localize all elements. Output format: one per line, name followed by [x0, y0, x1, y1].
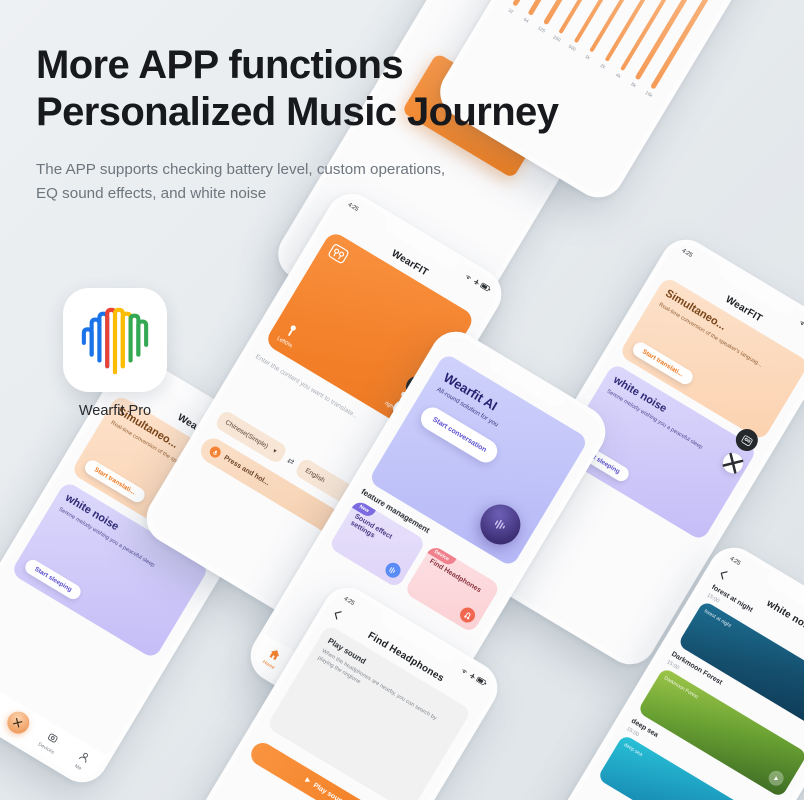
battery-icon	[480, 282, 493, 293]
eq-band-label: 16k	[645, 90, 654, 98]
headline-line-2: Personalized Music Journey	[36, 90, 558, 134]
nav-item-devices[interactable]: Devices	[30, 724, 70, 759]
eq-band-label: 500	[568, 43, 577, 51]
ai-waveform-icon	[473, 497, 528, 552]
headline-block: More APP functions Personalized Music Jo…	[36, 42, 558, 207]
airplane-icon	[472, 277, 480, 285]
eq-band-label: 64	[523, 16, 530, 23]
status-time: 4:25	[343, 596, 355, 607]
eq-band-label: 1k	[584, 53, 591, 60]
subtitle-line-1: The APP supports checking battery level,…	[36, 161, 445, 178]
eq-band-label: 4k	[615, 72, 622, 79]
wifi-icon	[464, 272, 473, 281]
eq-band-label: 125	[537, 25, 546, 33]
app-name-label: Wearfit Pro	[40, 403, 190, 419]
earbuds-case-icon	[325, 245, 349, 269]
status-time: 4:25	[681, 248, 693, 259]
mic-icon	[208, 445, 223, 460]
status-time: 4:25	[729, 556, 741, 567]
wifi-icon	[460, 666, 469, 675]
thumbnail-label: deep sea	[623, 742, 644, 758]
app-identity: Wearfit Pro	[40, 288, 190, 419]
swap-icon[interactable]: ⇄	[286, 455, 296, 466]
chevron-down-icon: ▾	[271, 447, 278, 456]
equalizer-icon	[382, 560, 403, 581]
app-icon-tile[interactable]	[63, 288, 167, 392]
feature-sound-effect-settings[interactable]: New Sound effect settings	[328, 499, 426, 588]
eq-band-label: 8k	[630, 81, 637, 88]
heart-waveform-icon	[76, 304, 154, 376]
subtitle-line-2: EQ sound effects, and white noise	[36, 185, 266, 202]
headline-line-1: More APP functions	[36, 43, 403, 87]
left-earbud: Left0%	[276, 321, 302, 349]
start-sleeping-button[interactable]: Start sleeping	[23, 557, 84, 602]
play-icon[interactable]	[766, 768, 787, 789]
battery-icon	[476, 676, 489, 687]
find-icon	[457, 605, 478, 626]
airplane-icon	[468, 671, 476, 679]
start-conversation-button[interactable]: Start conversation	[417, 403, 502, 467]
eq-band-label: 2k	[600, 63, 607, 70]
page-title: More APP functions Personalized Music Jo…	[36, 42, 558, 136]
wifi-icon	[798, 318, 804, 327]
feature-find-headphones[interactable]: Device Find Headphones	[403, 544, 501, 633]
thumbnail-label: forest at night	[703, 608, 732, 629]
center-action-icon	[3, 707, 33, 737]
eq-band-label: 32	[508, 7, 515, 14]
headline-subtitle: The APP supports checking battery level,…	[36, 158, 558, 207]
nav-item-me[interactable]: Me	[62, 743, 102, 778]
earbud-icon	[283, 323, 298, 340]
poster-stage: More APP functions Personalized Music Jo…	[0, 0, 804, 800]
play-icon	[302, 776, 313, 787]
